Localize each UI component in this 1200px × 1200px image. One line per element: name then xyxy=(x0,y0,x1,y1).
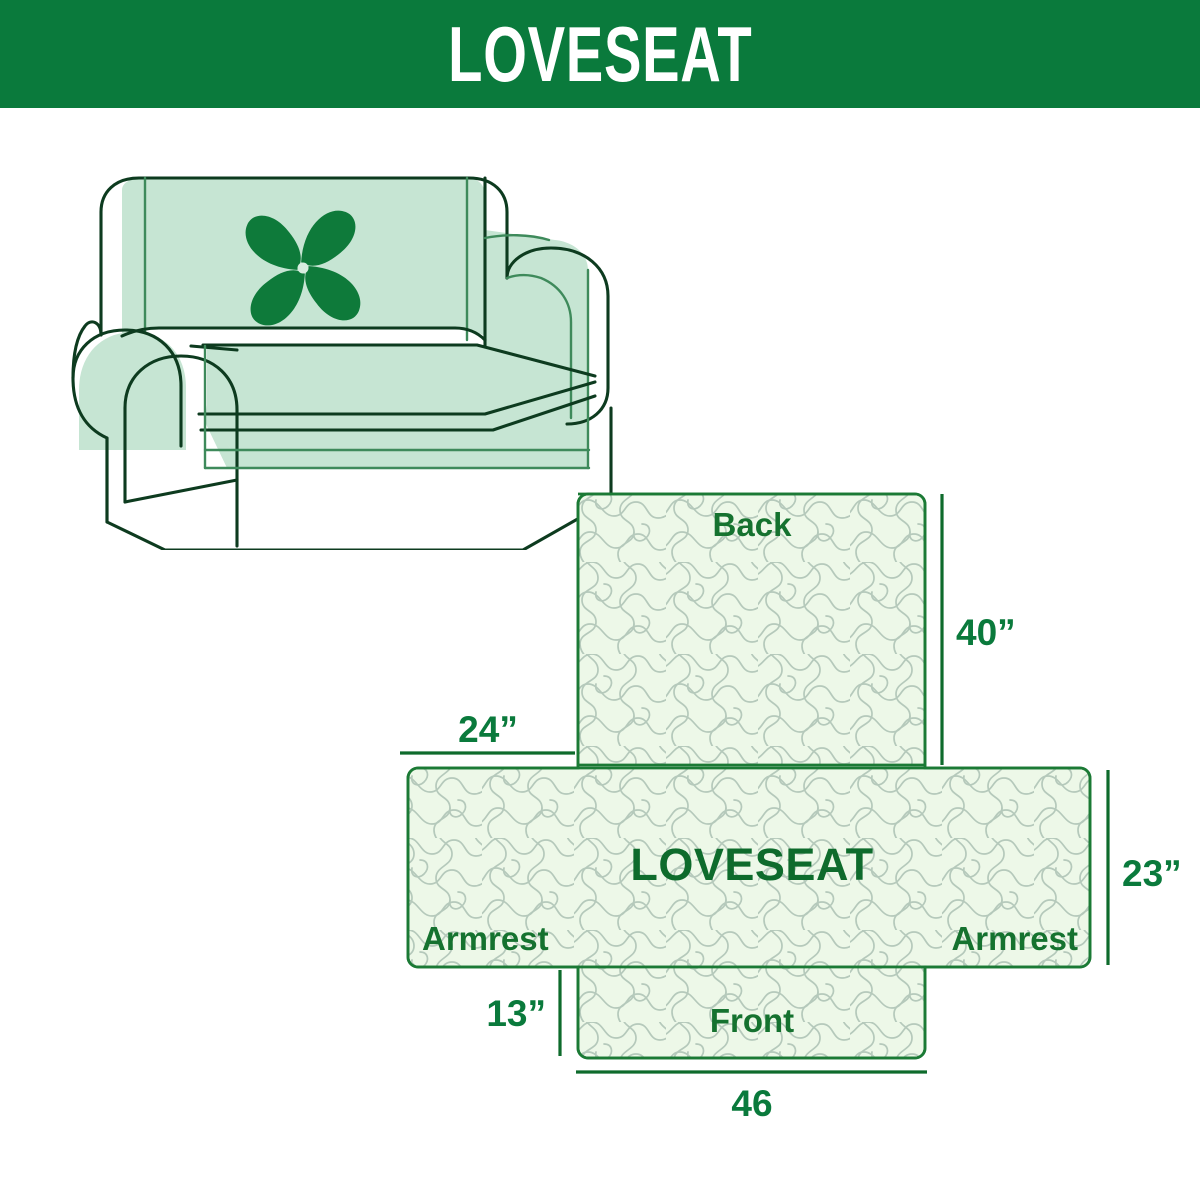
page-title: LOVESEAT xyxy=(448,15,752,93)
dim-back-height: 40” xyxy=(956,612,1016,653)
size-chart-page: LOVESEAT .ink { fill:none; stroke:#0D3B1… xyxy=(0,0,1200,1200)
label-back: Back xyxy=(713,506,793,543)
dim-back-offset: 24” xyxy=(458,709,518,750)
cover-layout-diagram: .cut { fill:url(#stipple); stroke:#1B7A3… xyxy=(390,470,1190,1150)
dim-seat-depth: 23” xyxy=(1122,853,1182,894)
label-center-loveseat: LOVESEAT xyxy=(630,839,873,890)
dim-front-width: 46 xyxy=(731,1083,772,1124)
label-armrest-right: Armrest xyxy=(951,920,1078,957)
header-banner: LOVESEAT xyxy=(0,0,1200,108)
label-armrest-left: Armrest xyxy=(422,920,549,957)
dim-front-height: 13” xyxy=(486,993,546,1034)
label-front: Front xyxy=(710,1002,794,1039)
